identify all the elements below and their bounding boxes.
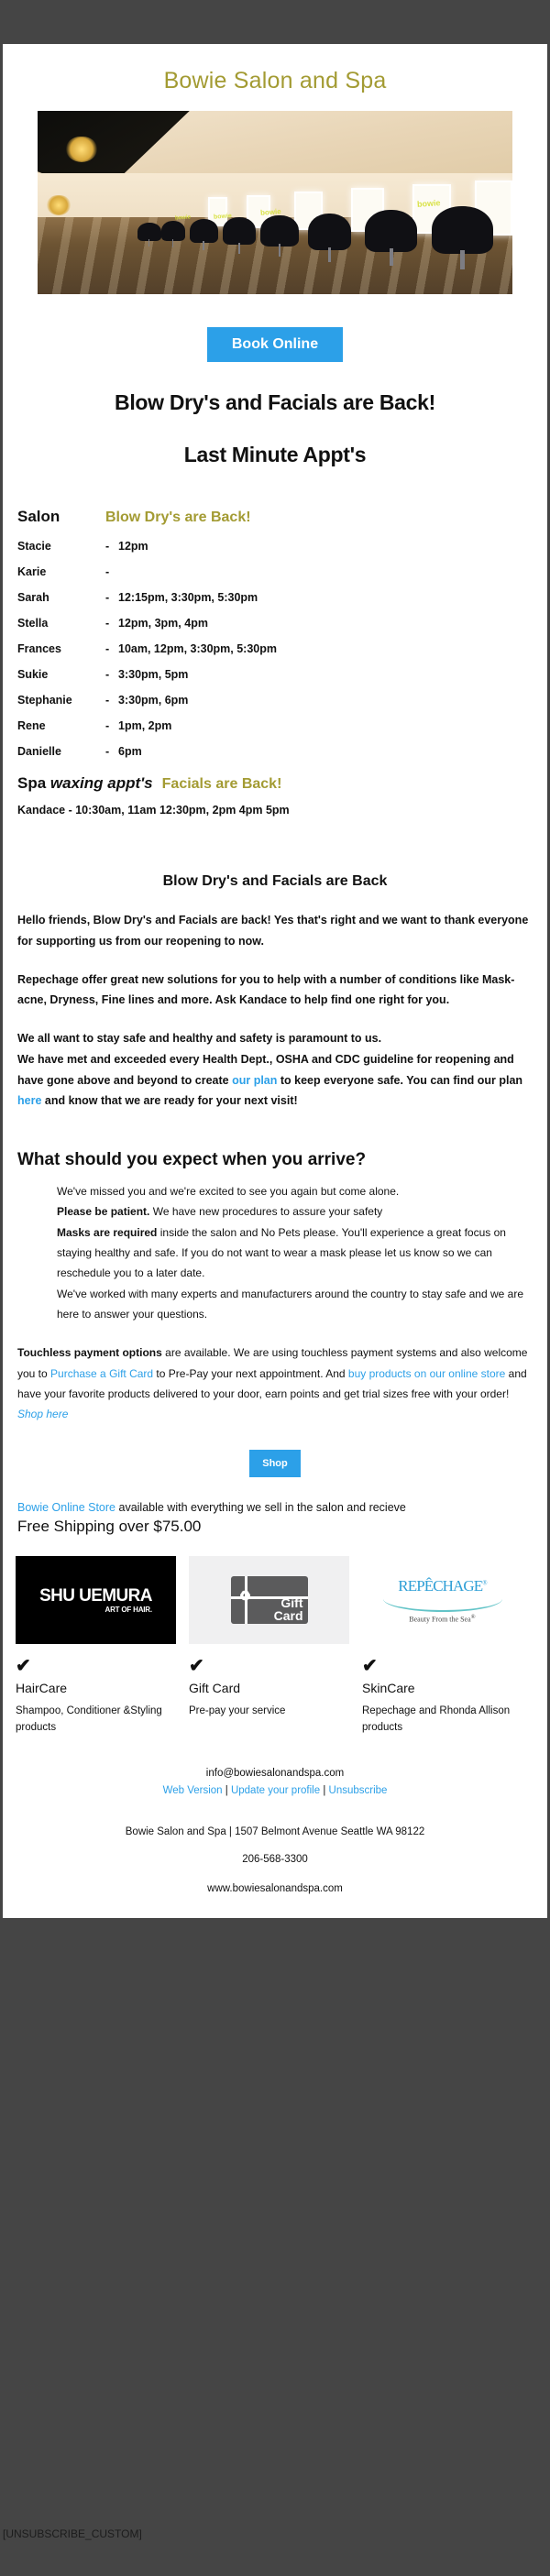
table-row: Stella - 12pm, 3pm, 4pm <box>17 617 547 630</box>
web-version-link[interactable]: Web Version <box>163 1785 223 1796</box>
wave-graphic <box>383 1596 502 1612</box>
gift-card-word-gift: Gift <box>274 1596 303 1609</box>
row-dash: - <box>105 565 118 578</box>
stylist-times: 1pm, 2pm <box>118 719 171 732</box>
article-title: Blow Dry's and Facials are Back <box>17 873 533 890</box>
stylist-name: Stacie <box>17 540 105 553</box>
headline-secondary: Last Minute Appt's <box>3 443 547 467</box>
here-link[interactable]: here <box>17 1094 41 1107</box>
safety-line-3: to keep everyone safe. You can find our … <box>277 1074 522 1087</box>
article-paragraph-1: Hello friends, Blow Dry's and Facials ar… <box>17 910 533 952</box>
bowie-wall-sign: bowie <box>417 198 441 209</box>
expect-section-body: We've missed you and we're excited to se… <box>17 1181 533 1324</box>
styling-chair <box>432 206 493 254</box>
spa-header-row: Spa waxing appt's Facials are Back! <box>17 774 547 793</box>
row-dash: - <box>105 591 118 604</box>
check-icon: ✔ <box>16 1657 176 1675</box>
footer-separator: | <box>320 1785 328 1796</box>
product-card-haircare[interactable]: SHU UEMURA ART OF HAIR. ✔ HairCare Shamp… <box>16 1556 176 1737</box>
book-online-button[interactable]: Book Online <box>207 327 343 362</box>
stylist-times: 12pm <box>118 540 148 553</box>
row-dash: - <box>105 642 118 655</box>
touchless-text-2: to Pre-Pay your next appointment. And <box>153 1367 348 1380</box>
expect-line-4: We've worked with many experts and manuf… <box>57 1288 523 1321</box>
store-line-text: available with everything we sell in the… <box>115 1501 406 1514</box>
repechage-logo: REPÊCHAGE® Beauty From the Sea® <box>362 1556 522 1644</box>
our-plan-link[interactable]: our plan <box>232 1074 277 1087</box>
row-dash: - <box>105 668 118 681</box>
styling-chair <box>365 210 417 252</box>
shop-button-row: Shop <box>17 1450 533 1477</box>
shop-here-link[interactable]: Shop here <box>17 1408 68 1420</box>
stylist-name: Karie <box>17 565 105 578</box>
update-profile-link[interactable]: Update your profile <box>231 1785 320 1796</box>
check-icon: ✔ <box>189 1657 349 1675</box>
check-icon: ✔ <box>362 1657 522 1675</box>
gift-card-word-card: Card <box>274 1609 303 1622</box>
product-card-skincare[interactable]: REPÊCHAGE® Beauty From the Sea® ✔ SkinCa… <box>362 1556 522 1737</box>
card-description: Shampoo, Conditioner &Styling products <box>16 1704 176 1737</box>
card-description: Repechage and Rhonda Allison products <box>362 1704 522 1737</box>
stylist-times: 10am, 12pm, 3:30pm, 5:30pm <box>118 642 277 655</box>
styling-chair <box>137 223 161 241</box>
repechage-wordmark: REPÊCHAGE® <box>383 1577 502 1595</box>
shop-button[interactable]: Shop <box>249 1450 301 1477</box>
footer-links: Web Version | Update your profile | Unsu… <box>3 1785 547 1796</box>
row-dash: - <box>105 617 118 630</box>
row-dash: - <box>105 745 118 758</box>
styling-chair <box>190 219 218 243</box>
row-dash: - <box>105 719 118 732</box>
spa-appointment-row: Kandace - 10:30am, 11am 12:30pm, 2pm 4pm… <box>17 804 547 817</box>
stylist-name: Frances <box>17 642 105 655</box>
touchless-bold-label: Touchless payment options <box>17 1346 162 1359</box>
unsubscribe-link[interactable]: Unsubscribe <box>329 1785 388 1796</box>
salon-interior-photo: bowie bowie bowie bowie <box>38 111 512 294</box>
table-row: Stacie - 12pm <box>17 540 547 553</box>
stylist-name: Sarah <box>17 591 105 604</box>
salon-accent-label: Blow Dry's are Back! <box>105 510 251 526</box>
free-shipping-text: Free Shipping over $75.00 <box>17 1518 533 1536</box>
email-footer: info@bowiesalonandspa.com Web Version | … <box>3 1768 547 1918</box>
spa-accent-label: Facials are Back! <box>162 776 282 793</box>
bowie-online-store-link[interactable]: Bowie Online Store <box>17 1501 115 1514</box>
stylist-times: 6pm <box>118 745 142 758</box>
footer-separator: | <box>223 1785 231 1796</box>
expect-bold-patient: Please be patient. <box>57 1205 149 1218</box>
table-row: Danielle - 6pm <box>17 745 547 758</box>
safety-line-4: and know that we are ready for your next… <box>41 1094 297 1107</box>
expect-paragraph: We've missed you and we're excited to se… <box>57 1181 527 1324</box>
purchase-gift-card-link[interactable]: Purchase a Gift Card <box>50 1367 153 1380</box>
touchless-paragraph: Touchless payment options are available.… <box>17 1343 533 1424</box>
row-dash: - <box>105 540 118 553</box>
repechage-tagline: Beauty From the Sea® <box>383 1614 502 1624</box>
row-dash: - <box>105 694 118 707</box>
table-row: Karie - <box>17 565 547 578</box>
table-row: Frances - 10am, 12pm, 3:30pm, 5:30pm <box>17 642 547 655</box>
table-row: Sukie - 3:30pm, 5pm <box>17 668 547 681</box>
appointments-header-row: Salon Blow Dry's are Back! <box>17 508 547 526</box>
stylist-times: 3:30pm, 5pm <box>118 668 188 681</box>
article-paragraph-3: We all want to stay safe and healthy and… <box>17 1028 533 1112</box>
styling-chair <box>223 217 256 245</box>
card-title: SkinCare <box>362 1681 522 1695</box>
stylist-times: 12:15pm, 3:30pm, 5:30pm <box>118 591 258 604</box>
stylist-name: Rene <box>17 719 105 732</box>
expect-line-1: We've missed you and we're excited to se… <box>57 1185 399 1198</box>
spa-label: Spa waxing appt's <box>17 774 153 793</box>
table-row: Rene - 1pm, 2pm <box>17 719 547 732</box>
card-title: HairCare <box>16 1681 176 1695</box>
gift-card-icon: Gift Card <box>189 1556 349 1644</box>
expect-bold-masks: Masks are required <box>57 1226 157 1239</box>
shu-uemura-logo: SHU UEMURA ART OF HAIR. <box>16 1556 176 1644</box>
email-body: Bowie Salon and Spa bowie bowie bowie bo… <box>3 44 547 1918</box>
shu-uemura-wordmark: SHU UEMURA <box>39 1587 152 1605</box>
shu-uemura-tagline: ART OF HAIR. <box>39 1606 152 1614</box>
stylist-name: Sukie <box>17 668 105 681</box>
stylist-name: Stella <box>17 617 105 630</box>
stylist-times: 3:30pm, 6pm <box>118 694 188 707</box>
article-paragraph-2: Repechage offer great new solutions for … <box>17 970 533 1012</box>
store-line: Bowie Online Store available with everyt… <box>17 1501 533 1514</box>
table-row: Sarah - 12:15pm, 3:30pm, 5:30pm <box>17 591 547 604</box>
styling-chair <box>260 215 298 247</box>
business-address: Bowie Salon and Spa | 1507 Belmont Avenu… <box>3 1826 547 1837</box>
salon-label: Salon <box>17 508 105 526</box>
expect-section-title: What should you expect when you arrive? <box>17 1150 533 1170</box>
table-row: Stephanie - 3:30pm, 6pm <box>17 694 547 707</box>
unsubscribe-token: [UNSUBSCRIBE_CUSTOM] <box>3 2527 142 2540</box>
product-card-giftcard[interactable]: Gift Card ✔ Gift Card Pre-pay your servi… <box>189 1556 349 1737</box>
online-store-link[interactable]: buy products on our online store <box>348 1367 505 1380</box>
business-phone: 206-568-3300 <box>3 1854 547 1865</box>
business-website: www.bowiesalonandspa.com <box>3 1883 547 1894</box>
product-cards: SHU UEMURA ART OF HAIR. ✔ HairCare Shamp… <box>3 1556 547 1737</box>
card-title: Gift Card <box>189 1681 349 1695</box>
stylist-times: 12pm, 3pm, 4pm <box>118 617 208 630</box>
contact-email: info@bowiesalonandspa.com <box>3 1768 547 1779</box>
stylist-name: Stephanie <box>17 694 105 707</box>
appointments-table: Salon Blow Dry's are Back! Stacie - 12pm… <box>3 508 547 817</box>
page-title: Bowie Salon and Spa <box>3 44 547 111</box>
safety-line-1: We all want to stay safe and healthy and… <box>17 1032 381 1045</box>
styling-chair <box>308 214 351 250</box>
styling-chair <box>161 221 185 241</box>
ribbon-bow-icon <box>236 1590 256 1610</box>
card-description: Pre-pay your service <box>189 1704 349 1720</box>
article-body: Blow Dry's and Facials are Back Hello fr… <box>3 873 547 1536</box>
bowie-wall-sign: bowie <box>175 214 191 221</box>
expect-line-2: We have new procedures to assure your sa… <box>149 1205 382 1218</box>
stylist-name: Danielle <box>17 745 105 758</box>
chandelier-icon <box>66 137 97 162</box>
book-online-row: Book Online <box>3 294 547 362</box>
headline-primary: Blow Dry's and Facials are Back! <box>3 390 547 415</box>
